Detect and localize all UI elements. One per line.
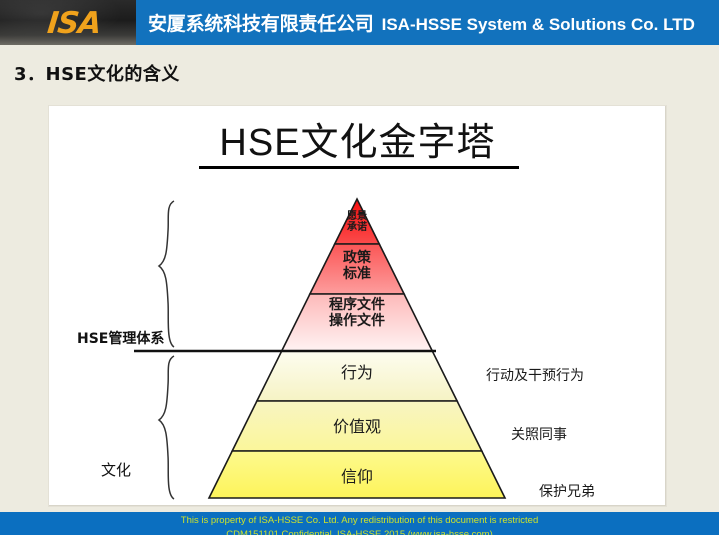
- header-company-en: ISA-HSSE System & Solutions Co. LTD: [382, 15, 695, 34]
- pyramid-level-vision: [335, 199, 380, 244]
- right-note-action: 行动及干预行为: [486, 365, 584, 385]
- pyramid-level-belief: [209, 451, 505, 498]
- pyramid-level-policy: [310, 244, 404, 294]
- pyramid-level-documents: [282, 294, 433, 351]
- page-title: 3．HSE文化的含义: [14, 60, 180, 86]
- right-note-protect: 保护兄弟: [539, 481, 595, 501]
- bracket-culture: [159, 356, 174, 499]
- right-note-care: 关照同事: [511, 424, 567, 444]
- pyramid-diagram: 愿景 承诺 政策 标准 程序文件 操作文件 行为 价值观 信仰 HSE管理体系: [49, 106, 666, 506]
- pyramid-level-values: [232, 401, 482, 451]
- pyramid-graphic: [49, 106, 666, 506]
- slide-canvas: ISA 安厦系统科技有限责任公司ISA-HSSE System & Soluti…: [0, 0, 719, 535]
- footer-bar: This is property of ISA-HSSE Co. Ltd. An…: [0, 512, 719, 535]
- bracket-management: [159, 201, 174, 347]
- group-label-management: HSE管理体系: [77, 328, 164, 348]
- header-company-cn: 安厦系统科技有限责任公司: [148, 14, 374, 35]
- content-panel: HSE文化金字塔: [48, 105, 667, 507]
- isa-logo: ISA: [22, 6, 126, 41]
- footer-document-id-line: CDM151101 Confidential, ISA-HSSE 2015 (w…: [0, 529, 719, 535]
- footer-copyright-line: This is property of ISA-HSSE Co. Ltd. An…: [0, 515, 719, 526]
- group-label-culture: 文化: [101, 459, 131, 480]
- header-company-title: 安厦系统科技有限责任公司ISA-HSSE System & Solutions …: [148, 9, 695, 36]
- pyramid-level-behavior: [257, 351, 457, 401]
